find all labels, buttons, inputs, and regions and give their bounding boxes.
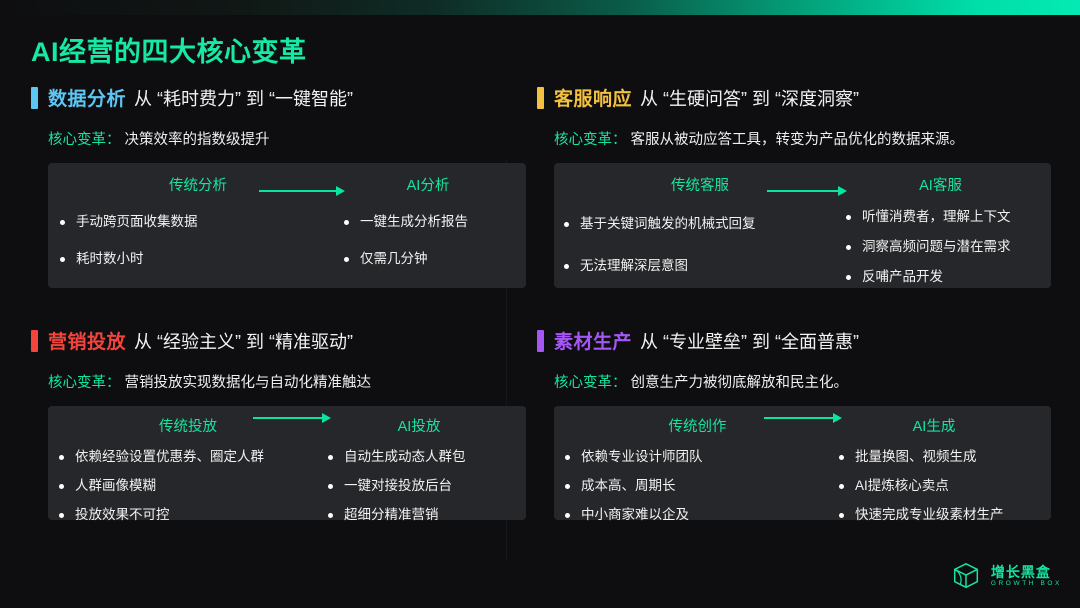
list-item-label: 投放效果不可控	[75, 507, 170, 523]
list-item: 反哺产品开发	[846, 269, 1051, 285]
list-item-label: 无法理解深层意图	[580, 258, 688, 274]
bullet-dot	[565, 513, 570, 518]
bullet-dot	[564, 264, 569, 269]
column-traditional: 传统分析 手动跨页面收集数据 耗时数小时	[48, 163, 338, 288]
bullet-dot	[59, 513, 64, 518]
column-heading: AI投放	[328, 406, 526, 442]
core-change-text: 创意生产力被彻底解放和民主化。	[631, 375, 849, 391]
core-change-line: 核心变革： 客服从被动应答工具，转变为产品优化的数据来源。	[537, 128, 1057, 149]
bullet-list: 一键生成分析报告 仅需几分钟	[338, 201, 526, 267]
column-heading: AI生成	[839, 406, 1051, 442]
list-item: 投放效果不可控	[59, 507, 328, 523]
transition-arrow-icon	[764, 413, 842, 423]
column-traditional: 传统创作 依赖专业设计师团队 成本高、周期长 中小商家难以企及	[554, 406, 839, 520]
list-item: 听懂消费者，理解上下文	[846, 209, 1051, 225]
bullet-dot	[564, 222, 569, 227]
list-item: 快速完成专业级素材生产	[839, 507, 1051, 523]
section-title: 客服响应	[554, 84, 632, 111]
list-item: 洞察高频问题与潜在需求	[846, 239, 1051, 255]
bullet-dot	[839, 455, 844, 460]
accent-bar	[31, 330, 38, 352]
core-change-line: 核心变革： 决策效率的指数级提升	[31, 128, 511, 149]
section-heading: 数据分析 从 “耗时费力” 到 “一键智能”	[31, 84, 511, 111]
list-item-label: 一键对接投放后台	[344, 478, 452, 494]
comparison-card: 传统分析 手动跨页面收集数据 耗时数小时 AI分析	[48, 163, 526, 288]
column-traditional: 传统投放 依赖经验设置优惠券、圈定人群 人群画像模糊 投放效果不可控	[48, 406, 328, 520]
section-heading: 素材生产 从 “专业壁垒” 到 “全面普惠”	[537, 327, 1057, 354]
list-item-label: 依赖专业设计师团队	[581, 449, 703, 465]
core-change-label: 核心变革：	[554, 132, 627, 148]
list-item-label: 成本高、周期长	[581, 478, 676, 494]
section-subtitle: 从 “耗时费力” 到 “一键智能”	[134, 85, 353, 111]
bullet-list: 基于关键词触发的机械式回复 无法理解深层意图	[554, 201, 844, 274]
list-item-label: 超细分精准营销	[344, 507, 439, 523]
column-ai: AI分析 一键生成分析报告 仅需几分钟	[338, 163, 526, 288]
list-item-label: 基于关键词触发的机械式回复	[580, 216, 756, 232]
list-item: 依赖专业设计师团队	[565, 449, 839, 465]
brand-name-cn: 增长黑盒	[991, 565, 1062, 579]
list-item: 耗时数小时	[60, 251, 338, 267]
column-ai: AI客服 听懂消费者，理解上下文 洞察高频问题与潜在需求 反哺产品开发	[844, 163, 1051, 288]
list-item-label: 快速完成专业级素材生产	[855, 507, 1004, 523]
core-change-text: 客服从被动应答工具，转变为产品优化的数据来源。	[631, 132, 965, 148]
list-item: 自动生成动态人群包	[328, 449, 526, 465]
page-title: AI经营的四大核心变革	[31, 30, 307, 69]
bullet-dot	[60, 220, 65, 225]
bullet-dot	[60, 257, 65, 262]
list-item-label: 一键生成分析报告	[360, 214, 468, 230]
list-item-label: 依赖经验设置优惠券、圈定人群	[75, 449, 264, 465]
section-subtitle: 从 “生硬问答” 到 “深度洞察”	[640, 85, 859, 111]
bullet-dot	[565, 455, 570, 460]
list-item: 一键对接投放后台	[328, 478, 526, 494]
bullet-list: 依赖专业设计师团队 成本高、周期长 中小商家难以企及	[554, 442, 839, 524]
column-ai: AI投放 自动生成动态人群包 一键对接投放后台 超细分精准营销	[328, 406, 526, 520]
section-subtitle: 从 “经验主义” 到 “精准驱动”	[134, 328, 353, 354]
list-item-label: 人群画像模糊	[75, 478, 156, 494]
accent-bar	[537, 330, 544, 352]
bullet-dot	[565, 484, 570, 489]
brand-wordmark: 增长黑盒 GROWTH BOX	[991, 565, 1062, 588]
comparison-card: 传统投放 依赖经验设置优惠券、圈定人群 人群画像模糊 投放效果不可控	[48, 406, 526, 520]
bullet-dot	[839, 484, 844, 489]
core-change-label: 核心变革：	[554, 375, 627, 391]
list-item-label: 耗时数小时	[76, 251, 144, 267]
transition-arrow-icon	[259, 186, 345, 196]
core-change-text: 营销投放实现数据化与自动化精准触达	[125, 375, 372, 391]
list-item-label: 仅需几分钟	[360, 251, 428, 267]
transition-arrow-icon	[767, 186, 847, 196]
list-item-label: 洞察高频问题与潜在需求	[862, 239, 1011, 255]
bullet-list: 听懂消费者，理解上下文 洞察高频问题与潜在需求 反哺产品开发	[844, 201, 1051, 286]
core-change-label: 核心变革：	[48, 375, 121, 391]
bullet-dot	[59, 484, 64, 489]
accent-bar	[31, 87, 38, 109]
list-item: 无法理解深层意图	[564, 258, 844, 274]
bullet-list: 依赖经验设置优惠券、圈定人群 人群画像模糊 投放效果不可控	[48, 442, 328, 524]
cube-icon	[950, 560, 982, 592]
section-subtitle: 从 “专业壁垒” 到 “全面普惠”	[640, 328, 859, 354]
accent-bar	[537, 87, 544, 109]
list-item: AI提炼核心卖点	[839, 478, 1051, 494]
column-heading: 传统投放	[48, 406, 328, 442]
list-item-label: 自动生成动态人群包	[344, 449, 466, 465]
list-item-label: 批量换图、视频生成	[855, 449, 977, 465]
bullet-dot	[328, 484, 333, 489]
bullet-dot	[846, 215, 851, 220]
bullet-list: 手动跨页面收集数据 耗时数小时	[48, 201, 338, 267]
list-item: 仅需几分钟	[344, 251, 526, 267]
bullet-dot	[846, 275, 851, 280]
section-heading: 营销投放 从 “经验主义” 到 “精准驱动”	[31, 327, 511, 354]
column-heading: AI客服	[844, 163, 1051, 201]
list-item-label: 中小商家难以企及	[581, 507, 689, 523]
core-change-label: 核心变革：	[48, 132, 121, 148]
list-item: 人群画像模糊	[59, 478, 328, 494]
list-item: 成本高、周期长	[565, 478, 839, 494]
section-customer-service: 客服响应 从 “生硬问答” 到 “深度洞察” 核心变革： 客服从被动应答工具，转…	[537, 84, 1057, 288]
list-item: 批量换图、视频生成	[839, 449, 1051, 465]
core-change-text: 决策效率的指数级提升	[125, 132, 270, 148]
column-ai: AI生成 批量换图、视频生成 AI提炼核心卖点 快速完成专业级素材生产	[839, 406, 1051, 520]
column-heading: AI分析	[338, 163, 526, 201]
core-change-line: 核心变革： 创意生产力被彻底解放和民主化。	[537, 371, 1057, 392]
list-item-label: AI提炼核心卖点	[855, 478, 949, 494]
column-heading: 传统创作	[554, 406, 839, 442]
comparison-card: 传统创作 依赖专业设计师团队 成本高、周期长 中小商家难以企及	[554, 406, 1051, 520]
core-change-line: 核心变革： 营销投放实现数据化与自动化精准触达	[31, 371, 511, 392]
brand-logo: 增长黑盒 GROWTH BOX	[950, 560, 1062, 592]
bullet-dot	[846, 245, 851, 250]
section-content-production: 素材生产 从 “专业壁垒” 到 “全面普惠” 核心变革： 创意生产力被彻底解放和…	[537, 327, 1057, 520]
list-item-label: 听懂消费者，理解上下文	[862, 209, 1011, 225]
section-data-analysis: 数据分析 从 “耗时费力” 到 “一键智能” 核心变革： 决策效率的指数级提升 …	[31, 84, 511, 288]
bullet-dot	[328, 455, 333, 460]
column-traditional: 传统客服 基于关键词触发的机械式回复 无法理解深层意图	[554, 163, 844, 288]
list-item-label: 手动跨页面收集数据	[76, 214, 198, 230]
bullet-list: 批量换图、视频生成 AI提炼核心卖点 快速完成专业级素材生产	[839, 442, 1051, 524]
list-item: 基于关键词触发的机械式回复	[564, 216, 844, 232]
slide-root: AI经营的四大核心变革 数据分析 从 “耗时费力” 到 “一键智能” 核心变革：…	[0, 0, 1080, 608]
list-item: 依赖经验设置优惠券、圈定人群	[59, 449, 328, 465]
list-item: 中小商家难以企及	[565, 507, 839, 523]
section-marketing: 营销投放 从 “经验主义” 到 “精准驱动” 核心变革： 营销投放实现数据化与自…	[31, 327, 511, 520]
bullet-dot	[839, 513, 844, 518]
top-gradient-bar	[0, 0, 1080, 15]
section-title: 营销投放	[48, 327, 126, 354]
bullet-dot	[328, 513, 333, 518]
bullet-dot	[344, 220, 349, 225]
list-item-label: 反哺产品开发	[862, 269, 943, 285]
bullet-list: 自动生成动态人群包 一键对接投放后台 超细分精准营销	[328, 442, 526, 524]
bullet-dot	[344, 257, 349, 262]
list-item: 超细分精准营销	[328, 507, 526, 523]
transition-arrow-icon	[253, 413, 331, 423]
comparison-card: 传统客服 基于关键词触发的机械式回复 无法理解深层意图 AI客服	[554, 163, 1051, 288]
section-heading: 客服响应 从 “生硬问答” 到 “深度洞察”	[537, 84, 1057, 111]
list-item: 手动跨页面收集数据	[60, 214, 338, 230]
brand-name-en: GROWTH BOX	[991, 581, 1062, 588]
section-title: 素材生产	[554, 327, 632, 354]
bullet-dot	[59, 455, 64, 460]
section-title: 数据分析	[48, 84, 126, 111]
list-item: 一键生成分析报告	[344, 214, 526, 230]
